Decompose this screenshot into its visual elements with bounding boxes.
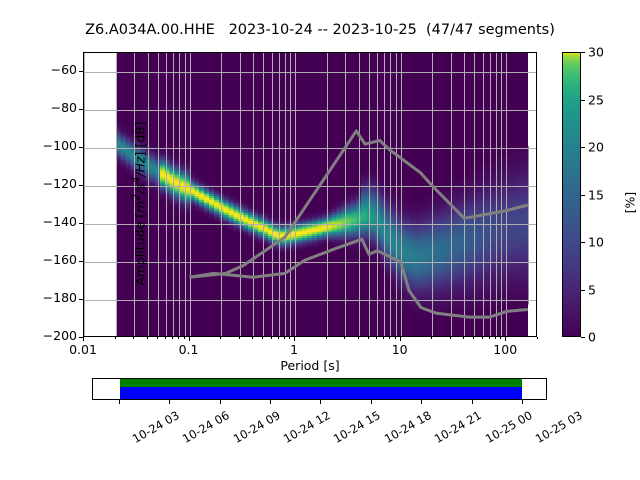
y-axis-tick-label: −100 <box>43 138 77 153</box>
x-axis-tick-minor <box>344 337 345 339</box>
colorbar-tick-label: 0 <box>588 330 596 345</box>
x-axis-tick-minor <box>178 337 179 339</box>
colorbar-tick-label: 25 <box>588 92 604 107</box>
x-axis-tick-minor <box>537 337 538 339</box>
x-axis-label: Period [s] <box>83 358 537 373</box>
x-axis-tick-minor <box>395 337 396 339</box>
x-axis-tick-minor <box>262 337 263 339</box>
x-axis-tick-major <box>505 337 506 341</box>
x-axis-tick-minor <box>157 337 158 339</box>
colorbar-tick-label: 30 <box>588 45 604 60</box>
page-title: Z6.A034A.00.HHE 2023-10-24 -- 2023-10-25… <box>0 22 640 38</box>
colorbar-tick <box>581 147 585 148</box>
data-availability-bar <box>120 379 523 387</box>
x-axis-tick-major <box>400 337 401 341</box>
colorbar-tick <box>581 242 585 243</box>
y-axis-tick-label: −180 <box>43 290 77 305</box>
colorbar-tick <box>581 52 585 53</box>
x-axis-tick-minor <box>463 337 464 339</box>
x-axis-tick-minor <box>482 337 483 339</box>
colorbar-tick-label: 10 <box>588 235 604 250</box>
x-axis-tick-minor <box>165 337 166 339</box>
x-axis-tick-minor <box>326 337 327 339</box>
x-axis-tick-label: 0.1 <box>179 342 199 357</box>
colorbar-tick <box>581 195 585 196</box>
x-axis-tick-minor <box>358 337 359 339</box>
y-axis-tick <box>79 223 83 224</box>
x-axis-tick-minor <box>172 337 173 339</box>
x-axis-tick-minor <box>115 337 116 339</box>
y-axis-tick <box>79 71 83 72</box>
x-axis-tick-major <box>83 337 84 341</box>
x-axis-tick-minor <box>184 337 185 339</box>
coverage-timeline[interactable] <box>92 378 547 400</box>
colorbar-tick <box>581 337 585 338</box>
x-axis-tick-minor <box>473 337 474 339</box>
y-axis-tick-label: −140 <box>43 214 77 229</box>
x-axis-tick-label: 100 <box>493 342 517 357</box>
y-axis-tick <box>79 185 83 186</box>
timeline-tick-label: 10-24 03 <box>130 408 182 446</box>
timeline-tick-label: 10-24 09 <box>231 408 283 446</box>
y-axis-tick <box>79 147 83 148</box>
x-axis-tick-minor <box>252 337 253 339</box>
colorbar-tick-label: 15 <box>588 187 604 202</box>
x-axis-tick-minor <box>271 337 272 339</box>
timeline-tick-label: 10-25 00 <box>483 408 535 446</box>
y-axis-tick-label: −80 <box>51 100 77 115</box>
timeline-tick-label: 10-24 18 <box>382 408 434 446</box>
ppsd-figure: Z6.A034A.00.HHE 2023-10-24 -- 2023-10-25… <box>0 0 640 480</box>
x-axis-tick-minor <box>500 337 501 339</box>
x-axis-tick-major <box>189 337 190 341</box>
timeline-tick-label: 10-24 06 <box>180 408 232 446</box>
timeline-tick-label: 10-25 03 <box>533 408 585 446</box>
psd-segments-bar <box>120 387 523 399</box>
timeline-tick-label: 10-24 21 <box>432 408 484 446</box>
y-axis-tick <box>79 109 83 110</box>
x-axis-tick-minor <box>284 337 285 339</box>
y-axis: −60−80−100−120−140−160−180−200 <box>0 52 640 337</box>
timeline-tick-label: 10-24 15 <box>331 408 383 446</box>
x-axis-tick-minor <box>376 337 377 339</box>
x-axis-tick-label: 0.01 <box>69 342 97 357</box>
x-axis-tick-minor <box>431 337 432 339</box>
y-axis-tick <box>79 261 83 262</box>
x-axis-tick-minor <box>368 337 369 339</box>
colorbar-label: [%] <box>623 173 638 233</box>
x-axis-tick-minor <box>278 337 279 339</box>
y-axis-tick <box>79 299 83 300</box>
x-axis-tick-minor <box>239 337 240 339</box>
timeline-tick-labels: 10-24 0310-24 0610-24 0910-24 1210-24 15… <box>92 400 547 470</box>
colorbar-ticks: 051015202530 <box>562 52 622 337</box>
x-axis-tick-minor <box>383 337 384 339</box>
y-axis-label: Amplitude [m2/s4/Hz] [dB] <box>130 59 147 349</box>
colorbar-tick <box>581 100 585 101</box>
y-axis-tick-label: −200 <box>43 328 77 343</box>
x-axis-tick-major <box>294 337 295 341</box>
timeline-tick-label: 10-24 12 <box>281 408 333 446</box>
colorbar-tick-label: 5 <box>588 282 596 297</box>
x-axis-tick-minor <box>495 337 496 339</box>
x-axis-tick-minor <box>289 337 290 339</box>
y-axis-tick-label: −160 <box>43 252 77 267</box>
colorbar-tick-label: 20 <box>588 140 604 155</box>
x-axis-tick-minor <box>220 337 221 339</box>
y-axis-tick-label: −60 <box>51 62 77 77</box>
x-axis-tick-label: 10 <box>392 342 408 357</box>
x-axis-tick-label: 1 <box>290 342 298 357</box>
x-axis-tick-minor <box>450 337 451 339</box>
x-axis-tick-minor <box>389 337 390 339</box>
colorbar-tick <box>581 290 585 291</box>
x-axis-tick-minor <box>489 337 490 339</box>
y-axis-tick-label: −120 <box>43 176 77 191</box>
